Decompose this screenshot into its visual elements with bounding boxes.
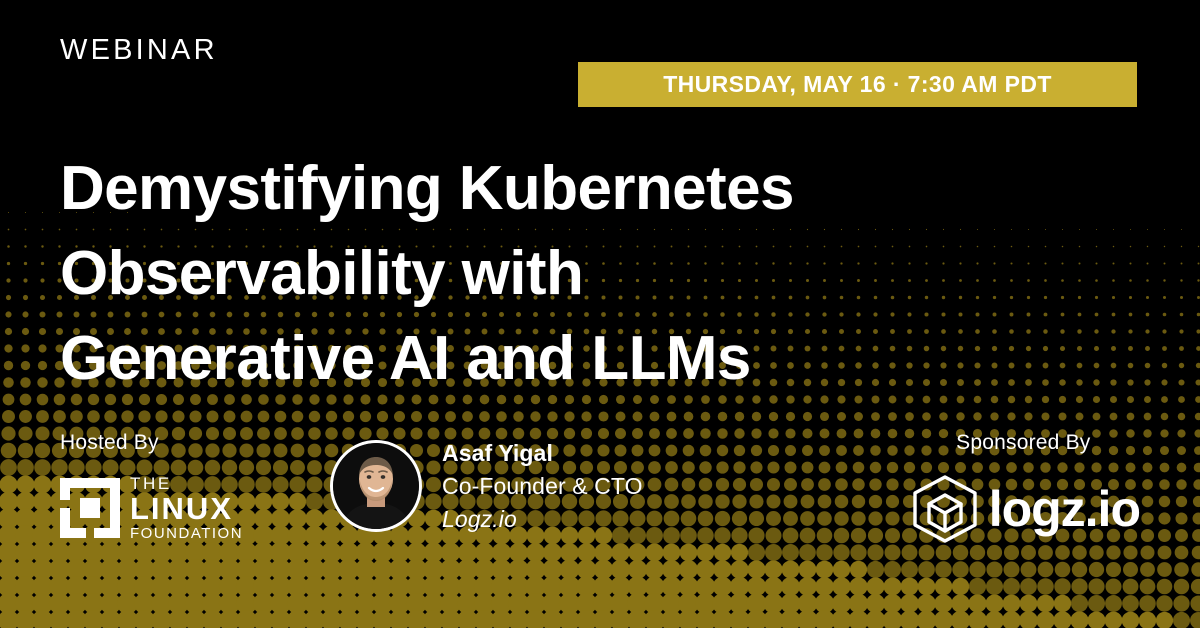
title-line-2: Observability with [60, 231, 940, 316]
lf-word-linux: LINUX [130, 493, 243, 524]
sponsored-by-block: Sponsored By logz.io [907, 432, 1140, 545]
speaker-block: Asaf Yigal Co-Founder & CTO Logz.io [330, 440, 643, 532]
speaker-role: Co-Founder & CTO [442, 475, 643, 498]
speaker-name: Asaf Yigal [442, 442, 643, 465]
hosted-by-label: Hosted By [60, 432, 300, 453]
linux-foundation-logo: THE LINUX FOUNDATION [60, 475, 300, 541]
linux-foundation-mark-icon [60, 478, 120, 538]
date-banner-text: THURSDAY, MAY 16 · 7:30 AM PDT [663, 71, 1052, 98]
speaker-portrait-icon [333, 443, 419, 529]
webinar-promo-card: WEBINAR THURSDAY, MAY 16 · 7:30 AM PDT D… [0, 0, 1200, 628]
date-banner: THURSDAY, MAY 16 · 7:30 AM PDT [578, 62, 1137, 107]
title-line-3: Generative AI and LLMs [60, 316, 940, 401]
logz-io-cube-icon [907, 473, 983, 545]
speaker-details: Asaf Yigal Co-Founder & CTO Logz.io [442, 442, 643, 531]
page-title: Demystifying Kubernetes Observability wi… [60, 146, 940, 401]
hosted-by-block: Hosted By THE LINUX FOUNDATION [60, 432, 300, 541]
logz-io-logo: logz.io [907, 473, 1140, 545]
logz-io-wordmark: logz.io [989, 484, 1140, 534]
lf-word-the: THE [130, 475, 243, 492]
speaker-company: Logz.io [442, 508, 643, 531]
avatar [330, 440, 422, 532]
eyebrow-label: WEBINAR [60, 36, 218, 65]
title-line-1: Demystifying Kubernetes [60, 146, 940, 231]
sponsored-by-label: Sponsored By [956, 432, 1090, 453]
footer-row: Hosted By THE LINUX FOUNDATION [0, 432, 1200, 562]
linux-foundation-wordmark: THE LINUX FOUNDATION [130, 475, 243, 541]
lf-word-foundation: FOUNDATION [130, 526, 243, 541]
